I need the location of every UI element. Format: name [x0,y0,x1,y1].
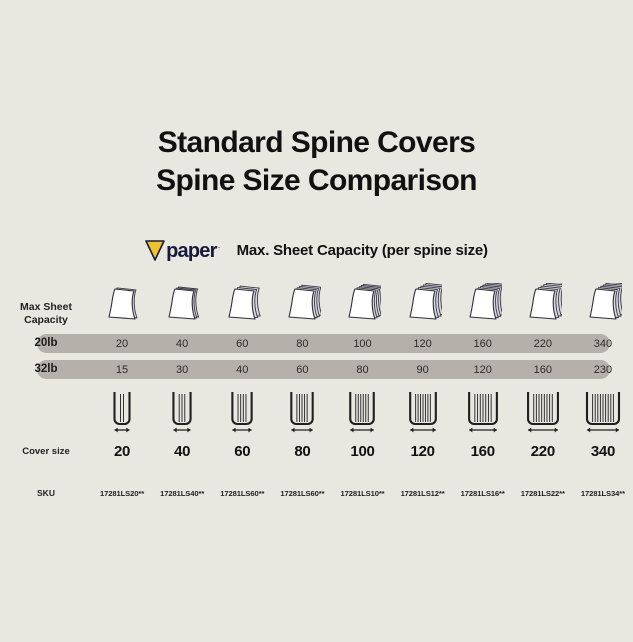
capacity-value-20lb: 80 [272,338,332,350]
capacity-value-32lb: 230 [573,364,633,376]
capacity-value-32lb: 15 [92,364,152,376]
paper-stack-icon [272,275,332,327]
sku-row: SKU 17281LS20**17281LS40**17281LS60**172… [0,484,633,502]
spine-width-icon [393,389,453,437]
cover-size-value: 20 [92,443,152,460]
capacity-value-32lb: 120 [453,364,513,376]
capacity-value-32lb: 30 [152,364,212,376]
paper-stack-icon [152,275,212,327]
paper-stack-icon [453,275,513,327]
logo-v-icon [145,240,165,261]
cover-size-value: 60 [212,443,272,460]
capacity-value-32lb: 40 [212,364,272,376]
brand-subtitle-row: paper · Max. Sheet Capacity (per spine s… [0,240,633,261]
comparison-table: Max Sheet Capacity 20lb 2040608010012016… [0,275,633,502]
sku-value: 17281LS34** [573,489,633,498]
vpaper-logo: paper · [145,240,220,261]
paper-stack-cells [92,275,633,327]
paper-stack-icon [513,275,573,327]
subtitle: Max. Sheet Capacity (per spine size) [237,242,488,259]
capacity-value-20lb: 100 [332,338,392,350]
paper-stack-icon [92,275,152,327]
sku-value: 17281LS20** [92,489,152,498]
spine-width-icon [332,389,392,437]
sku-value: 17281LS10** [332,489,392,498]
spine-width-icon [453,389,513,437]
page-title: Standard Spine Covers Spine Size Compari… [0,124,633,200]
capacity-value-32lb: 80 [332,364,392,376]
row-label-32lb: 32lb [0,363,92,376]
capacity-value-20lb: 220 [513,338,573,350]
capacity-cells-32lb: 153040608090120160230 [92,364,633,376]
cover-size-row: Cover size 20406080100120160220340 [0,440,633,462]
sku-value: 17281LS12** [393,489,453,498]
cover-size-value: 100 [332,443,392,460]
cover-size-value: 80 [272,443,332,460]
capacity-row-20lb: 20lb 20406080100120160220340 [0,334,633,353]
spine-width-icon [92,389,152,437]
capacity-value-32lb: 60 [272,364,332,376]
paper-stack-icon [393,275,453,327]
row-label-20lb: 20lb [0,337,92,350]
paper-stack-icon [573,275,633,327]
spine-width-icon [212,389,272,437]
sku-value: 17281LS60** [272,489,332,498]
logo-trademark: · [218,242,221,252]
capacity-value-20lb: 20 [92,338,152,350]
row-label-sku: SKU [0,487,92,500]
capacity-value-32lb: 90 [393,364,453,376]
spine-icon-cells [92,389,633,437]
cover-size-value: 160 [453,443,513,460]
spine-width-icon [513,389,573,437]
paper-stack-icon [212,275,272,327]
row-label-line-1: Max Sheet [0,301,92,314]
capacity-row-32lb: 32lb 153040608090120160230 [0,360,633,379]
capacity-value-20lb: 160 [453,338,513,350]
row-label-cover-size: Cover size [0,445,92,458]
sku-value: 17281LS60** [212,489,272,498]
spine-width-icon [573,389,633,437]
capacity-value-20lb: 60 [212,338,272,350]
row-label-line-2: Capacity [0,314,92,327]
sku-value: 17281LS40** [152,489,212,498]
capacity-value-32lb: 160 [513,364,573,376]
paper-stack-icon [332,275,392,327]
capacity-value-20lb: 40 [152,338,212,350]
cover-size-value: 40 [152,443,212,460]
infographic-sheet: Standard Spine Covers Spine Size Compari… [0,0,633,642]
cover-size-cells: 20406080100120160220340 [92,443,633,460]
cover-size-value: 340 [573,443,633,460]
paper-stack-row: Max Sheet Capacity [0,275,633,327]
spine-width-icon [272,389,332,437]
cover-size-value: 120 [393,443,453,460]
spine-width-icon [152,389,212,437]
cover-size-value: 220 [513,443,573,460]
capacity-value-20lb: 340 [573,338,633,350]
title-line-1: Standard Spine Covers [0,124,633,162]
capacity-value-20lb: 120 [393,338,453,350]
capacity-cells-20lb: 20406080100120160220340 [92,338,633,350]
title-line-2: Spine Size Comparison [0,162,633,200]
sku-cells: 17281LS20**17281LS40**17281LS60**17281LS… [92,489,633,498]
sku-value: 17281LS16** [453,489,513,498]
sku-value: 17281LS22** [513,489,573,498]
row-label-max-sheet-capacity: Max Sheet Capacity [0,301,92,327]
spine-icon-row [0,389,633,437]
logo-wordmark: paper [166,241,216,261]
